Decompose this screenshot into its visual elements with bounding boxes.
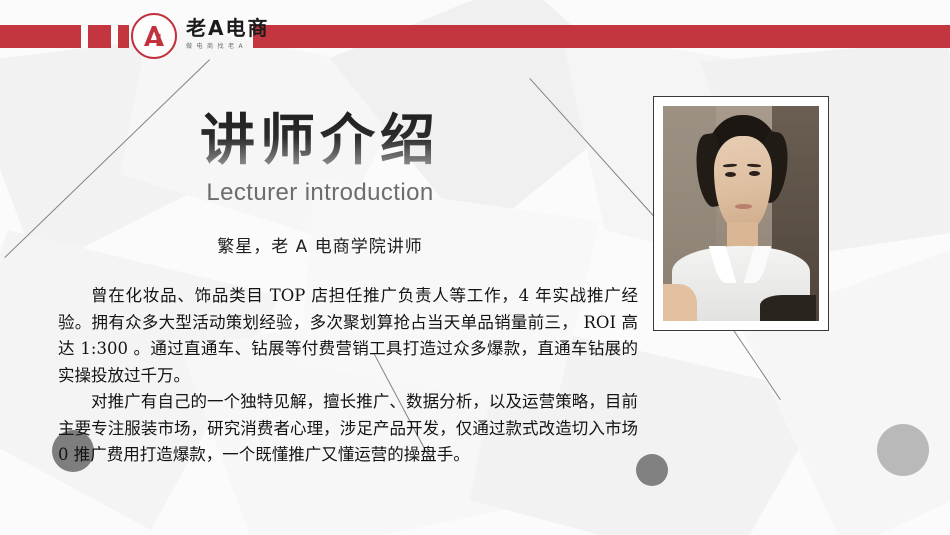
slide-canvas: 老A电商 做电商找老A 讲师介绍 Lecturer introduction 繁… [0, 0, 950, 535]
photo-eye-right [749, 171, 760, 176]
header-bar: 老A电商 做电商找老A [0, 0, 950, 62]
photo-shadow [760, 295, 816, 321]
logo-wordmark: 老A电商 做电商找老A [186, 17, 269, 52]
lecturer-name: 繁星，老 A 电商学院讲师 [0, 232, 640, 257]
page-title: 讲师介绍 [0, 108, 640, 172]
photo-neck [727, 222, 758, 248]
bio-paragraph: 曾在化妆品、饰品类目 TOP 店担任推广负责人等工作，4 年实战推广经验。拥有众… [58, 283, 638, 389]
photo-eye-left [725, 172, 736, 177]
lecturer-photo [663, 106, 819, 321]
bio-paragraph: 对推广有自己的一个独特见解，擅长推广、数据分析，以及运营策略，目前主要专注服装市… [58, 389, 638, 469]
title-block: 讲师介绍 Lecturer introduction [0, 108, 640, 208]
photo-arm [663, 284, 697, 321]
accent-bar-right [253, 25, 950, 48]
decorative-circle-mid [636, 454, 668, 486]
accent-bar-small-2 [118, 25, 129, 48]
page-subtitle: Lecturer introduction [0, 178, 640, 208]
photo-mouth [735, 204, 752, 209]
lecturer-photo-frame [653, 96, 829, 331]
logo-main-text: 老A电商 [186, 17, 269, 39]
decorative-circle-right [877, 424, 929, 476]
logo-sub-text: 做电商找老A [186, 42, 269, 52]
accent-bar-long [0, 25, 81, 48]
logo-mark-icon [131, 13, 177, 59]
lecturer-bio: 曾在化妆品、饰品类目 TOP 店担任推广负责人等工作，4 年实战推广经验。拥有众… [58, 283, 638, 469]
accent-bar-small-1 [88, 25, 111, 48]
